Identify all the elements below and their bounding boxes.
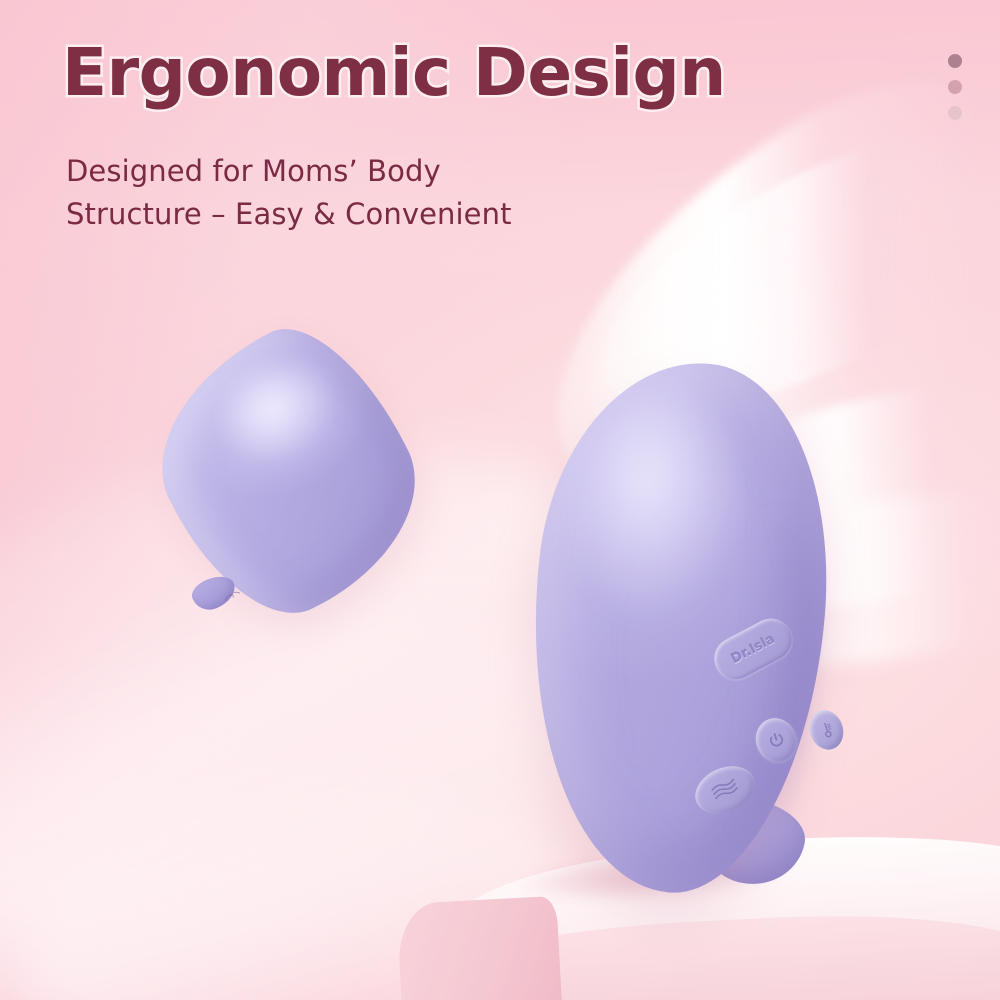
podium-left-step xyxy=(396,896,563,1000)
wave-lines-icon xyxy=(707,775,743,805)
poster-canvas: Dr.Isla Ergonomic Design Designed for Mo… xyxy=(0,0,1000,1000)
page-title: Ergonomic Design xyxy=(62,34,726,111)
heat-icon xyxy=(816,719,837,741)
page-subtitle: Designed for Moms’ Body Structure – Easy… xyxy=(66,150,512,236)
main-body-highlight xyxy=(575,395,747,622)
indicator-dots[interactable] xyxy=(948,54,962,120)
insert-highlight xyxy=(208,351,345,480)
indicator-dot-2[interactable] xyxy=(948,80,962,94)
indicator-dot-1[interactable] xyxy=(948,54,962,68)
power-icon xyxy=(764,728,788,752)
indicator-dot-3[interactable] xyxy=(948,106,962,120)
subtitle-line-2: Structure – Easy & Convenient xyxy=(66,193,512,236)
subtitle-line-1: Designed for Moms’ Body xyxy=(66,150,512,193)
brand-label: Dr.Isla xyxy=(729,631,778,667)
